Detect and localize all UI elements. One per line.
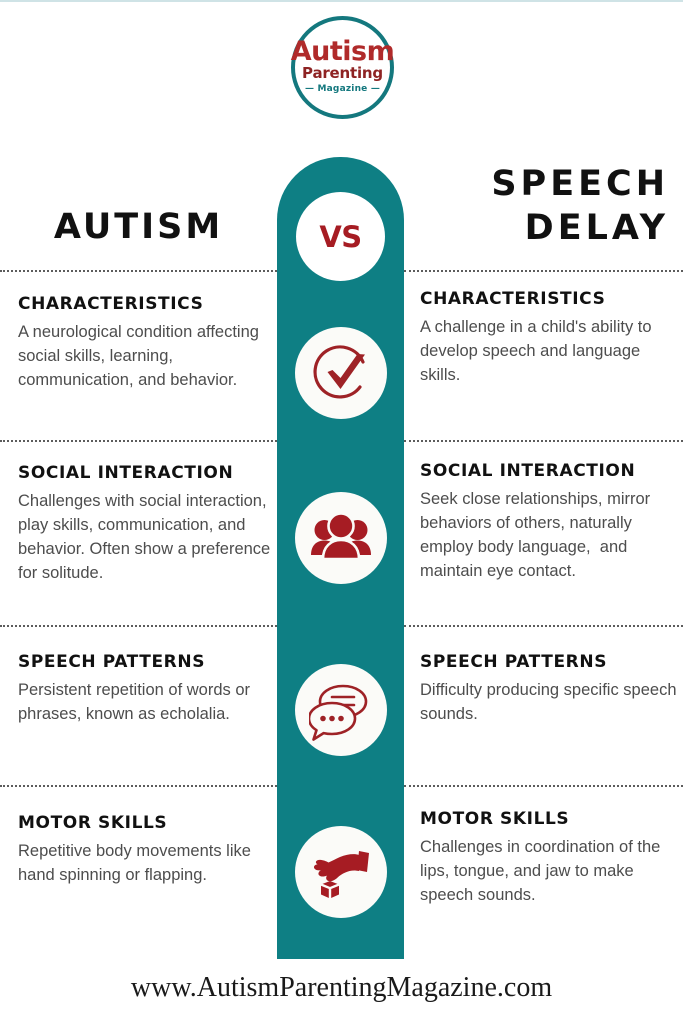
row-heading: CHARACTERISTICS: [18, 294, 276, 314]
top-hairline: [0, 0, 683, 2]
row-heading: SOCIAL INTERACTION: [18, 463, 276, 483]
row-body: A challenge in a child's ability to deve…: [420, 315, 678, 387]
row-characteristics-speech-delay: CHARACTERISTICS A challenge in a child's…: [420, 289, 678, 387]
row-heading: MOTOR SKILLS: [420, 809, 678, 829]
divider-right-2: [404, 440, 683, 442]
vs-badge: VS: [296, 192, 385, 281]
row-body: A neurological condition affecting socia…: [18, 320, 276, 392]
footer-website-url[interactable]: www.AutismParentingMagazine.com: [0, 972, 683, 1004]
divider-left-4: [0, 785, 277, 787]
row-motor-skills-autism: MOTOR SKILLS Repetitive body movements l…: [18, 813, 276, 887]
row-body: Seek close relationships, mirror behavio…: [420, 487, 678, 583]
divider-left-2: [0, 440, 277, 442]
row-heading: SPEECH PATTERNS: [18, 652, 276, 672]
row-characteristics-autism: CHARACTERISTICS A neurological condition…: [18, 294, 276, 392]
divider-right-1: [404, 270, 683, 272]
check-circle-icon: [295, 327, 387, 419]
row-body: Challenges in coordination of the lips, …: [420, 835, 678, 907]
row-body: Persistent repetition of words or phrase…: [18, 678, 276, 726]
right-column-title-line2: DELAY: [399, 206, 669, 250]
row-speech-patterns-autism: SPEECH PATTERNS Persistent repetition of…: [18, 652, 276, 726]
left-column-title: AUTISM: [0, 207, 277, 247]
hand-dropping-block-icon: [295, 826, 387, 918]
row-heading: MOTOR SKILLS: [18, 813, 276, 833]
divider-right-4: [404, 785, 683, 787]
infographic-canvas: Autism Parenting — Magazine — VS AUTISM …: [0, 0, 683, 1024]
logo-line-magazine: — Magazine —: [305, 82, 380, 96]
row-body: Difficulty producing specific speech sou…: [420, 678, 678, 726]
divider-left-1: [0, 270, 277, 272]
right-column-title: SPEECH DELAY: [399, 162, 669, 250]
row-social-interaction-speech-delay: SOCIAL INTERACTION Seek close relationsh…: [420, 461, 678, 583]
row-heading: SPEECH PATTERNS: [420, 652, 678, 672]
logo-line-autism: Autism: [291, 39, 394, 65]
row-motor-skills-speech-delay: MOTOR SKILLS Challenges in coordination …: [420, 809, 678, 907]
row-heading: CHARACTERISTICS: [420, 289, 678, 309]
row-body: Repetitive body movements like hand spin…: [18, 839, 276, 887]
vs-label: VS: [319, 220, 361, 254]
people-group-icon: [295, 492, 387, 584]
right-column-title-line1: SPEECH: [399, 162, 669, 206]
autism-parenting-magazine-logo: Autism Parenting — Magazine —: [291, 16, 394, 119]
row-speech-patterns-speech-delay: SPEECH PATTERNS Difficulty producing spe…: [420, 652, 678, 726]
divider-right-3: [404, 625, 683, 627]
logo-line-parenting: Parenting: [302, 65, 383, 82]
row-body: Challenges with social interaction, play…: [18, 489, 276, 585]
row-heading: SOCIAL INTERACTION: [420, 461, 678, 481]
row-social-interaction-autism: SOCIAL INTERACTION Challenges with socia…: [18, 463, 276, 585]
speech-bubbles-icon: [295, 664, 387, 756]
divider-left-3: [0, 625, 277, 627]
